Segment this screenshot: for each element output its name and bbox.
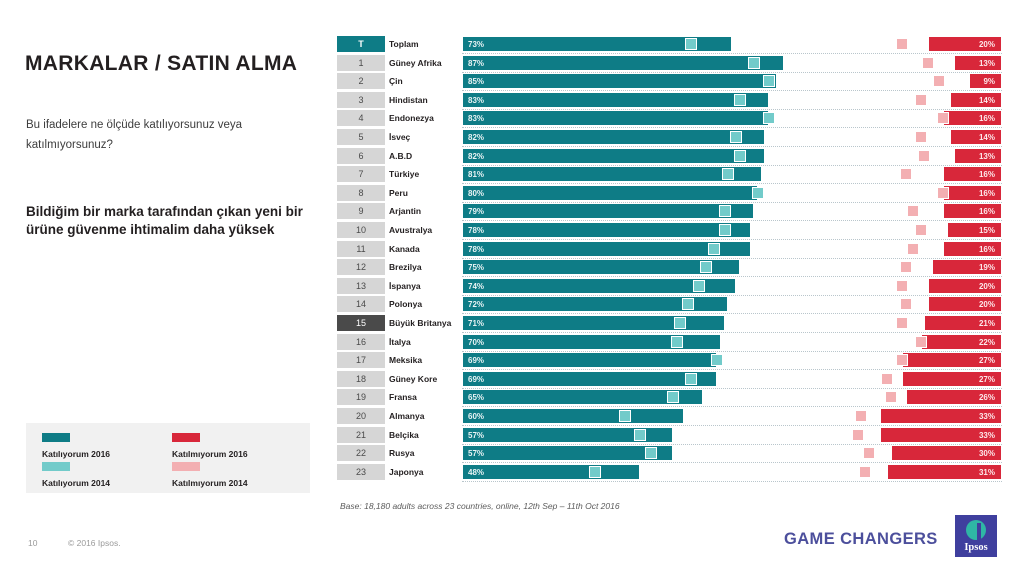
row-plot-area: 69%27% [462,371,1002,387]
disagree-2014-marker [918,150,930,162]
agree-2016-value: 83% [468,111,484,126]
legend-swatch-agree-2016 [42,433,70,442]
rank-box: 3 [337,92,385,108]
agree-2014-marker [674,317,686,329]
disagree-2014-marker [915,94,927,106]
agree-2016-bar: 81% [462,166,762,182]
rank-box: 7 [337,166,385,182]
agree-2014-marker [685,373,697,385]
agree-2014-marker [589,466,601,478]
agree-2016-value: 72% [468,297,484,312]
agree-2014-marker [734,94,746,106]
chart-row: 3Hindistan83%14% [337,92,1002,110]
agree-2014-marker [693,280,705,292]
disagree-2014-marker [933,75,945,87]
disagree-2016-value: 14% [979,130,995,145]
agree-2014-marker [682,298,694,310]
disagree-2016-bar: 13% [954,148,1002,164]
disagree-2014-marker [896,38,908,50]
country-label: Büyük Britanya [389,315,461,331]
country-label: Avustralya [389,222,461,238]
agree-2014-marker [763,112,775,124]
row-plot-area: 82%14% [462,129,1002,145]
disagree-2016-value: 9% [983,74,995,89]
disagree-2016-value: 16% [979,167,995,182]
chart-row: 13İspanya74%20% [337,278,1002,296]
disagree-2016-bar: 27% [902,352,1002,368]
disagree-2016-value: 16% [979,111,995,126]
disagree-2016-value: 22% [979,335,995,350]
legend-label-disagree-2014: Katılmıyorum 2014 [172,478,248,488]
chart-row: 1Güney Afrika87%13% [337,55,1002,73]
country-label: Güney Afrika [389,55,461,71]
country-label: Kanada [389,241,461,257]
country-label: Arjantin [389,203,461,219]
ipsos-logo-icon: Ipsos [955,515,997,557]
disagree-2014-marker [885,391,897,403]
rank-box: 17 [337,352,385,368]
agree-2014-marker [719,205,731,217]
agree-2016-value: 57% [468,446,484,461]
agree-2016-bar: 60% [462,408,684,424]
disagree-2016-value: 15% [979,223,995,238]
agree-2016-value: 73% [468,37,484,52]
legend-swatch-agree-2014 [42,462,70,471]
agree-2014-marker [634,429,646,441]
agree-2014-marker [645,447,657,459]
disagree-2016-bar: 19% [932,259,1002,275]
logo-circle-shape [966,520,986,540]
agree-2014-marker [671,336,683,348]
agree-2016-value: 65% [468,390,484,405]
disagree-2016-bar: 16% [943,166,1002,182]
agree-2016-bar: 82% [462,129,765,145]
disagree-2014-marker [922,57,934,69]
row-plot-area: 57%33% [462,427,1002,443]
row-plot-area: 81%16% [462,166,1002,182]
agree-2014-marker [748,57,760,69]
agree-2016-bar: 85% [462,73,777,89]
rank-box: 4 [337,110,385,126]
legend-item-agree-2016: Katılıyorum 2016 [42,433,110,459]
country-label: Brezilya [389,259,461,275]
country-bar-chart: TToplam73%20%1Güney Afrika87%13%2Çin85%9… [337,36,1002,502]
country-label: Endonezya [389,110,461,126]
agree-2016-value: 80% [468,186,484,201]
disagree-2014-marker [863,447,875,459]
chart-row: 21Belçika57%33% [337,427,1002,445]
chart-row: 9Arjantin79%16% [337,203,1002,221]
legend-swatch-disagree-2014 [172,462,200,471]
agree-2014-marker [700,261,712,273]
chart-row: 19Fransa65%26% [337,389,1002,407]
disagree-2016-bar: 31% [887,464,1002,480]
disagree-2016-bar: 33% [880,408,1002,424]
agree-2016-value: 70% [468,335,484,350]
legend-item-disagree-2016: Katılmıyorum 2016 [172,433,248,459]
disagree-2016-value: 33% [979,409,995,424]
disagree-2016-value: 16% [979,204,995,219]
disagree-2014-marker [907,243,919,255]
row-plot-area: 80%16% [462,185,1002,201]
chart-row: 10Avustralya78%15% [337,222,1002,240]
chart-row: 23Japonya48%31% [337,464,1002,482]
disagree-2016-bar: 21% [924,315,1002,331]
rank-box: 13 [337,278,385,294]
country-label: İsveç [389,129,461,145]
disagree-2014-marker [852,429,864,441]
rank-box: 10 [337,222,385,238]
disagree-2016-bar: 14% [950,129,1002,145]
statement-text: Bildiğim bir marka tarafından çıkan yeni… [26,203,306,239]
disagree-2016-value: 33% [979,428,995,443]
chart-row: 16İtalya70%22% [337,334,1002,352]
disagree-2016-value: 13% [979,149,995,164]
disagree-2016-bar: 22% [921,334,1002,350]
row-plot-area: 69%27% [462,352,1002,368]
rank-box: 16 [337,334,385,350]
agree-2016-value: 75% [468,260,484,275]
chart-row: 12Brezilya75%19% [337,259,1002,277]
agree-2014-marker [734,150,746,162]
disagree-2014-marker [896,354,908,366]
rank-box: 9 [337,203,385,219]
country-label: Belçika [389,427,461,443]
rank-box: T [337,36,385,52]
rank-box: 22 [337,445,385,461]
country-label: Fransa [389,389,461,405]
row-plot-area: 71%21% [462,315,1002,331]
logo-wordmark: Ipsos [964,542,987,553]
disagree-2016-bar: 16% [943,203,1002,219]
legend-label-agree-2014: Katılıyorum 2014 [42,478,110,488]
page-title: MARKALAR / SATIN ALMA [25,52,297,76]
disagree-2016-value: 21% [979,316,995,331]
agree-2014-marker [708,243,720,255]
legend-label-disagree-2016: Katılmıyorum 2016 [172,449,248,459]
row-plot-area: 72%20% [462,296,1002,312]
country-label: Almanya [389,408,461,424]
row-plot-area: 48%31% [462,464,1002,480]
chart-row: 4Endonezya83%16% [337,110,1002,128]
chart-row: 20Almanya60%33% [337,408,1002,426]
row-plot-area: 82%13% [462,148,1002,164]
agree-2016-value: 74% [468,279,484,294]
row-plot-area: 75%19% [462,259,1002,275]
agree-2016-value: 82% [468,149,484,164]
agree-2016-value: 48% [468,465,484,480]
chart-row: 8Peru80%16% [337,185,1002,203]
rank-box: 20 [337,408,385,424]
disagree-2016-value: 20% [979,279,995,294]
disagree-2014-marker [937,187,949,199]
agree-2014-marker [619,410,631,422]
agree-2016-bar: 87% [462,55,784,71]
rank-box: 8 [337,185,385,201]
agree-2014-marker [730,131,742,143]
rank-box: 2 [337,73,385,89]
disagree-2014-marker [915,224,927,236]
disagree-2016-bar: 16% [943,185,1002,201]
rank-box: 23 [337,464,385,480]
agree-2016-value: 87% [468,56,484,71]
country-label: Çin [389,73,461,89]
rank-box: 18 [337,371,385,387]
disagree-2016-value: 16% [979,242,995,257]
row-plot-area: 60%33% [462,408,1002,424]
disagree-2016-bar: 33% [880,427,1002,443]
disagree-2014-marker [881,373,893,385]
row-plot-area: 65%26% [462,389,1002,405]
agree-2016-value: 57% [468,428,484,443]
disagree-2014-marker [907,205,919,217]
legend-swatch-disagree-2016 [172,433,200,442]
agree-2014-marker [685,38,697,50]
country-label: Türkiye [389,166,461,182]
disagree-2016-value: 27% [979,372,995,387]
legend-label-agree-2016: Katılıyorum 2016 [42,449,110,459]
rank-box: 5 [337,129,385,145]
agree-2014-marker [722,168,734,180]
disagree-2014-marker [915,336,927,348]
disagree-2016-bar: 20% [928,36,1002,52]
row-plot-area: 79%16% [462,203,1002,219]
chart-row: 2Çin85%9% [337,73,1002,91]
agree-2016-bar: 69% [462,352,717,368]
disagree-2016-value: 13% [979,56,995,71]
rank-box: 21 [337,427,385,443]
disagree-2014-marker [859,466,871,478]
agree-2016-bar: 69% [462,371,717,387]
disagree-2014-marker [915,131,927,143]
agree-2014-marker [763,75,775,87]
row-plot-area: 74%20% [462,278,1002,294]
disagree-2014-marker [900,298,912,310]
chart-row: 22Rusya57%30% [337,445,1002,463]
agree-2016-bar: 83% [462,92,769,108]
agree-2016-bar: 82% [462,148,765,164]
row-plot-area: 78%15% [462,222,1002,238]
tagline: GAME CHANGERS [784,530,938,549]
disagree-2016-value: 20% [979,297,995,312]
agree-2016-bar: 83% [462,110,769,126]
disagree-2016-value: 27% [979,353,995,368]
row-plot-area: 73%20% [462,36,1002,52]
disagree-2014-marker [896,280,908,292]
rank-box: 1 [337,55,385,71]
disagree-2016-value: 31% [979,465,995,480]
page-number: 10 [28,538,37,548]
disagree-2014-marker [900,261,912,273]
agree-2016-value: 83% [468,93,484,108]
disagree-2016-value: 30% [979,446,995,461]
disagree-2014-marker [896,317,908,329]
row-plot-area: 83%14% [462,92,1002,108]
row-plot-area: 83%16% [462,110,1002,126]
country-label: Polonya [389,296,461,312]
rank-box: 14 [337,296,385,312]
country-label: Peru [389,185,461,201]
row-plot-area: 85%9% [462,73,1002,89]
disagree-2016-value: 20% [979,37,995,52]
chart-row: 11Kanada78%16% [337,241,1002,259]
agree-2016-bar: 75% [462,259,740,275]
agree-2016-value: 85% [468,74,484,89]
agree-2016-value: 79% [468,204,484,219]
left-panel: MARKALAR / SATIN ALMA Bu ifadelere ne öl… [0,0,330,576]
chart-row: 14Polonya72%20% [337,296,1002,314]
agree-2016-value: 69% [468,372,484,387]
row-plot-area: 87%13% [462,55,1002,71]
agree-2014-marker [667,391,679,403]
rank-box: 12 [337,259,385,275]
agree-2016-value: 81% [468,167,484,182]
agree-2016-bar: 80% [462,185,758,201]
country-label: Meksika [389,352,461,368]
rank-box: 6 [337,148,385,164]
agree-2016-bar: 48% [462,464,640,480]
disagree-2016-bar: 27% [902,371,1002,387]
disagree-2016-bar: 14% [950,92,1002,108]
disagree-2016-bar: 13% [954,55,1002,71]
agree-2016-bar: 78% [462,222,751,238]
base-note: Base: 18,180 adults across 23 countries,… [340,501,620,511]
agree-2016-value: 60% [468,409,484,424]
rank-box: 19 [337,389,385,405]
disagree-2016-bar: 16% [943,110,1002,126]
disagree-2016-bar: 26% [906,389,1002,405]
country-label: İtalya [389,334,461,350]
country-label: Rusya [389,445,461,461]
question-text: Bu ifadelere ne ölçüde katılıyorsunuz ve… [26,115,311,155]
agree-2014-marker [719,224,731,236]
disagree-2016-bar: 15% [947,222,1003,238]
country-label: Güney Kore [389,371,461,387]
disagree-2016-bar: 20% [928,278,1002,294]
row-dotted-gridline [462,480,1002,482]
country-label: Toplam [389,36,461,52]
chart-row: 7Türkiye81%16% [337,166,1002,184]
agree-2016-value: 69% [468,353,484,368]
agree-2016-bar: 57% [462,445,673,461]
disagree-2016-value: 16% [979,186,995,201]
row-plot-area: 70%22% [462,334,1002,350]
agree-2014-marker [752,187,764,199]
rank-box: 11 [337,241,385,257]
agree-2016-value: 78% [468,223,484,238]
country-label: Hindistan [389,92,461,108]
disagree-2016-value: 26% [979,390,995,405]
disagree-2016-bar: 16% [943,241,1002,257]
chart-row: 18Güney Kore69%27% [337,371,1002,389]
chart-row: 5İsveç82%14% [337,129,1002,147]
row-plot-area: 78%16% [462,241,1002,257]
chart-row: 17Meksika69%27% [337,352,1002,370]
agree-2016-bar: 79% [462,203,754,219]
copyright-notice: © 2016 Ipsos. [68,538,121,548]
country-label: İspanya [389,278,461,294]
legend-item-agree-2014: Katılıyorum 2014 [42,462,110,488]
agree-2014-marker [711,354,723,366]
country-label: Japonya [389,464,461,480]
disagree-2016-value: 19% [979,260,995,275]
chart-row: TToplam73%20% [337,36,1002,54]
country-label: A.B.D [389,148,461,164]
chart-row: 6A.B.D82%13% [337,148,1002,166]
legend: Katılıyorum 2016 Katılmıyorum 2016 Katıl… [26,423,310,493]
disagree-2014-marker [900,168,912,180]
row-plot-area: 57%30% [462,445,1002,461]
agree-2016-value: 71% [468,316,484,331]
disagree-2016-bar: 30% [891,445,1002,461]
rank-box: 15 [337,315,385,331]
disagree-2014-marker [937,112,949,124]
disagree-2014-marker [855,410,867,422]
disagree-2016-value: 14% [979,93,995,108]
agree-2016-value: 78% [468,242,484,257]
agree-2016-value: 82% [468,130,484,145]
disagree-2016-bar: 20% [928,296,1002,312]
legend-item-disagree-2014: Katılmıyorum 2014 [172,462,248,488]
chart-row: 15Büyük Britanya71%21% [337,315,1002,333]
disagree-2016-bar: 9% [969,73,1002,89]
